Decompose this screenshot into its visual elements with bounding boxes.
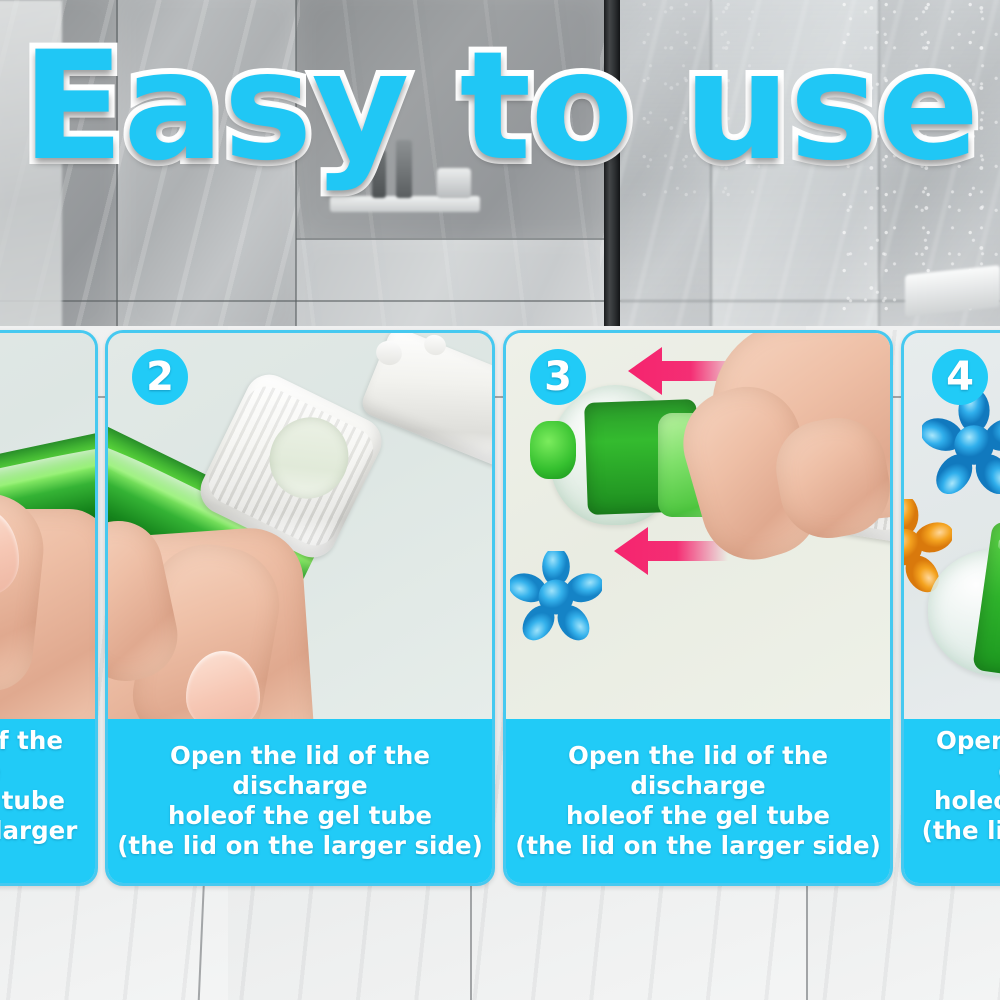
step-2-badge: 2 — [132, 349, 188, 405]
step-1-caption: Open the lid of the discharge holeof the… — [0, 719, 95, 883]
step-3-caption: Open the lid of the discharge holeof the… — [506, 719, 890, 883]
blue-flower-gel-icon — [510, 551, 602, 643]
step-panel-4[interactable]: Open the lid of the discharge holeof the… — [901, 330, 1000, 886]
counter-fixture — [330, 196, 480, 212]
step-1-photo — [0, 333, 95, 725]
green-gel-stamp — [530, 421, 576, 479]
blue-flower-gel-icon — [922, 393, 1000, 497]
step-4-badge: 4 — [932, 349, 988, 405]
step-4-caption: Open the lid of the discharge holeof the… — [904, 719, 1000, 883]
steps-row: Open the lid of the discharge holeof the… — [0, 330, 1000, 886]
step-panel-3[interactable]: Open the lid of the discharge holeof the… — [503, 330, 893, 886]
step-panel-2[interactable]: Open the lid of the discharge holeof the… — [105, 330, 495, 886]
step-2-caption: Open the lid of the discharge holeof the… — [108, 719, 492, 883]
page-title: Easy to use — [0, 32, 1000, 182]
step-3-badge: 3 — [530, 349, 586, 405]
step-panel-1[interactable]: Open the lid of the discharge holeof the… — [0, 330, 98, 886]
